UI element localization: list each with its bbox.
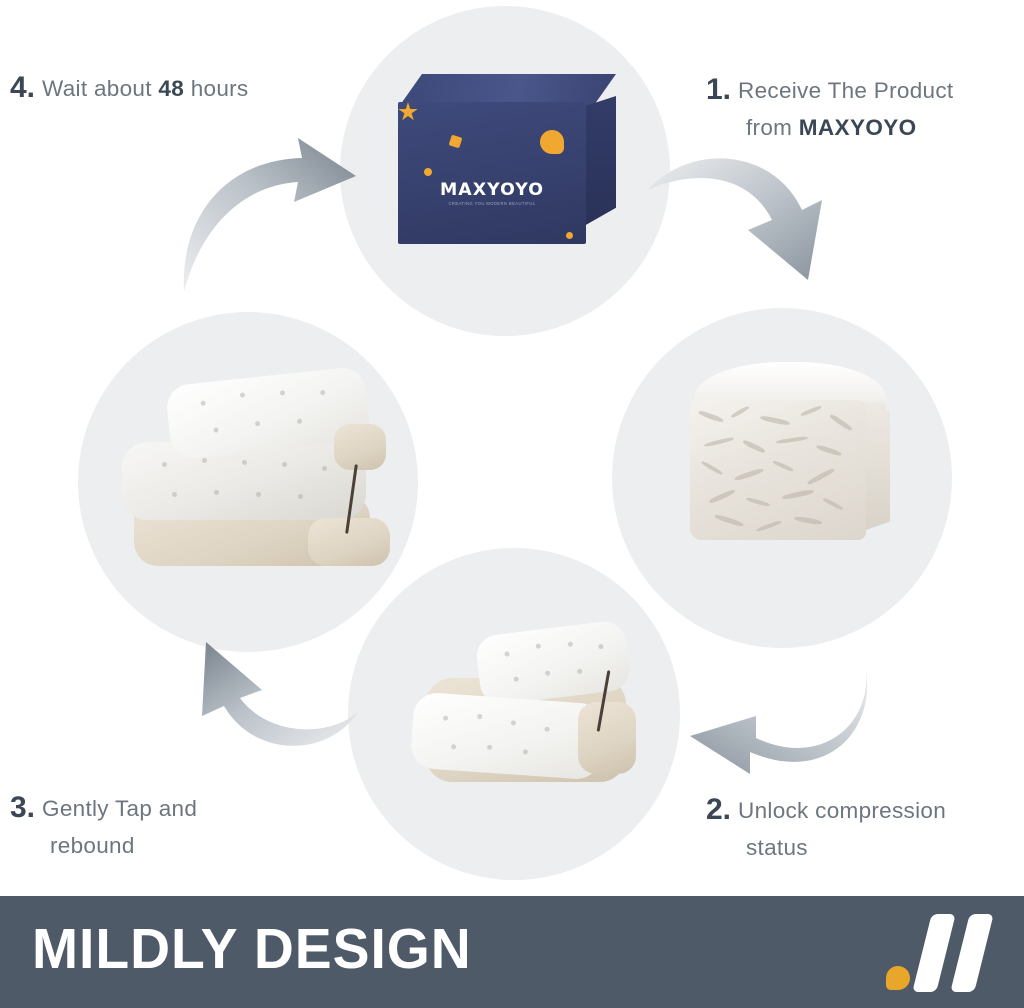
step-1-number: 1. [706,73,731,106]
box-front-face: MAXYOYO CREATING YOU MODERN BEAUTIFUL [398,102,586,244]
step-2-label: 2.Unlock compression status [706,790,1006,863]
step-4-number: 4. [10,71,35,104]
arrow-step3-to-step4-icon [168,628,368,778]
sofa-partially-expanded-image [406,612,646,802]
step-2-line-2: status [746,835,808,860]
orange-dot-large-icon [540,130,564,154]
step-1-label: 1.Receive The Product from MAXYOYO [706,70,1016,143]
block-front-surface [690,400,866,540]
partial-seat [410,691,605,780]
box-tagline: CREATING YOU MODERN BEAUTIFUL [426,201,558,206]
step-4-label: 4.Wait about 48 hours [10,68,340,109]
step-1-line-2-prefix: from [746,115,799,140]
logo-accent-dot-icon [886,966,910,990]
box-side-face [584,96,616,226]
mildly-m-logo-icon [882,910,1002,996]
step-4-text-strong: 48 [158,76,184,101]
box-brand-logo: MAXYOYO [425,180,560,200]
arrow-step1-to-step2-icon [640,138,860,286]
block-wrinkle-texture [690,400,866,540]
orange-dot-small-icon [424,168,432,176]
step-3-number: 3. [10,791,35,824]
step-4-text-suffix: hours [184,76,248,101]
orange-dot-tiny-icon [566,232,573,239]
step-4-text-prefix: Wait about [42,76,158,101]
step-1-line-1: Receive The Product [738,78,953,103]
step-3-line-1: Gently Tap and [42,796,197,821]
banner-title: MILDLY DESIGN [32,916,472,982]
arrow-step4-to-step1-icon [178,136,364,296]
step-1-brand: MAXYOYO [799,115,917,140]
infographic-canvas: MAXYOYO CREATING YOU MODERN BEAUTIFUL [0,0,1024,1008]
sofa-fully-expanded-image [112,368,402,588]
compressed-block-image [690,362,890,547]
bottom-banner: MILDLY DESIGN [0,896,1024,1008]
step-3-label: 3.Gently Tap and rebound [10,788,310,861]
partial-side-fold [578,702,636,774]
orange-square-icon [449,135,463,149]
orange-star-icon [398,102,418,122]
step-2-number: 2. [706,793,731,826]
logo-stroke-left [912,914,955,992]
full-armrest [334,424,386,470]
full-seat [122,442,366,520]
step-3-line-2: rebound [50,833,135,858]
step-2-line-1: Unlock compression [738,798,946,823]
shipping-box-image: MAXYOYO CREATING YOU MODERN BEAUTIFUL [398,74,616,244]
logo-stroke-right [950,914,993,992]
